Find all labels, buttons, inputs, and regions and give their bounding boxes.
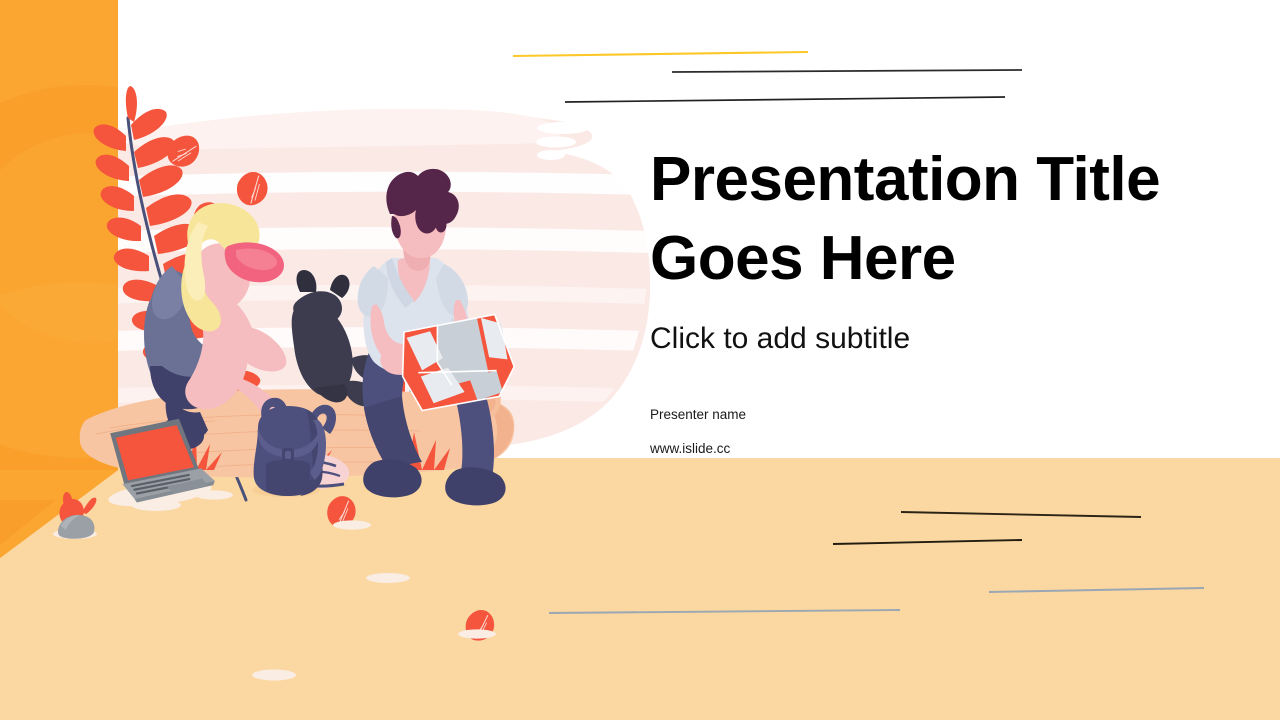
- bottom-dark-line-2: [833, 540, 1022, 544]
- bottom-dark-line-1: [901, 512, 1141, 517]
- top-dark-line-2: [565, 97, 1005, 102]
- top-dark-line-1: [672, 70, 1022, 72]
- bottom-blue-line-2: [549, 610, 900, 613]
- presentation-slide: Presentation Title Goes Here Click to ad…: [0, 0, 1280, 720]
- subtitle-placeholder[interactable]: Click to add subtitle: [650, 321, 1230, 357]
- page-title[interactable]: Presentation Title Goes Here: [650, 140, 1230, 299]
- website-url[interactable]: www.islide.cc: [650, 441, 1230, 456]
- bottom-blue-line-1: [989, 588, 1204, 592]
- top-yellow-line: [513, 52, 808, 56]
- presenter-name[interactable]: Presenter name: [650, 407, 1230, 422]
- title-text-block: Presentation Title Goes Here Click to ad…: [650, 140, 1230, 456]
